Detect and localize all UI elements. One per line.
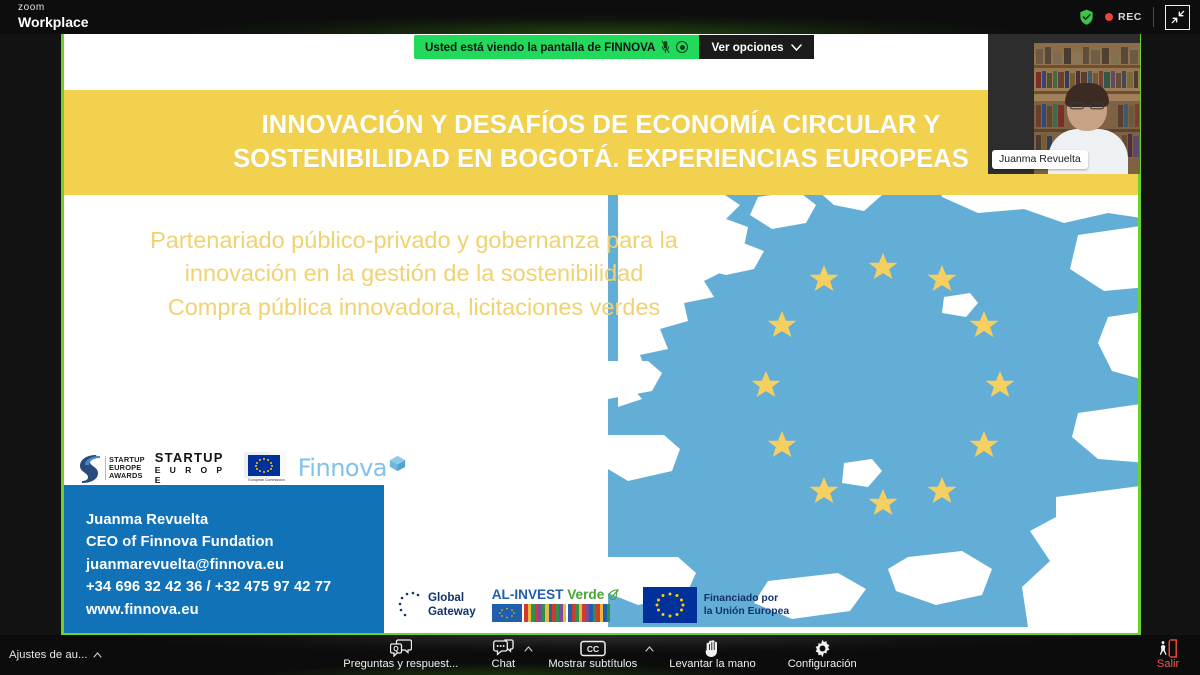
raise-hand-icon	[703, 639, 722, 657]
global-gateway-logo: Global Gateway	[397, 590, 476, 620]
eu-funding-logo: Financiado por la Unión Europea	[643, 587, 789, 623]
toolbar-center-controls: Q Preguntas y respuest... Chat	[0, 635, 1200, 675]
eu-flag	[643, 587, 697, 623]
contact-email: juanmarevuelta@finnova.eu	[86, 554, 384, 576]
qa-bubble-icon: Q	[390, 639, 412, 657]
zoom-logo: zoom Workplace	[18, 3, 89, 29]
qa-button[interactable]: Q Preguntas y respuest...	[327, 635, 474, 675]
record-dot-icon	[1105, 13, 1113, 21]
brand-zoom-text: zoom	[18, 3, 89, 13]
top-right-controls: REC	[1079, 0, 1190, 34]
svg-text:Q: Q	[393, 646, 399, 653]
finnova-wordmark: Finnova	[298, 454, 387, 482]
funder-logo-row: Global Gateway AL-INVEST Verde	[397, 579, 797, 631]
contact-role: CEO of Finnova Fundation	[86, 531, 384, 553]
top-bar: zoom Workplace REC	[0, 0, 1200, 34]
contact-phone: +34 696 32 42 36 / +32 475 97 42 77	[86, 576, 384, 598]
startup-europe-awards-logo: STARTUP EUROPE AWARDS	[76, 453, 145, 483]
slide-title-line-1: INNOVACIÓN Y DESAFÍOS DE ECONOMÍA CIRCUL…	[262, 109, 941, 143]
meeting-toolbar: Ajustes de au... Q Preguntas y respuest.…	[0, 635, 1200, 675]
exit-fullscreen-button[interactable]	[1165, 5, 1190, 30]
startup-europe-line-1: STARTUP	[155, 451, 233, 465]
settings-label: Configuración	[788, 659, 857, 670]
raise-hand-label: Levantar la mano	[669, 659, 755, 670]
screen-share-notice: Usted está viendo la pantalla de FINNOVA…	[414, 35, 814, 59]
contact-website: www.finnova.eu	[86, 599, 384, 621]
toolbar-divider	[1153, 7, 1154, 27]
slide-subtitle-line-3: Compra pública innovadora, licitaciones …	[64, 291, 764, 324]
chat-button[interactable]: Chat	[474, 635, 532, 675]
view-options-button[interactable]: Ver opciones	[699, 35, 813, 59]
captions-label: Mostrar subtítulos	[548, 659, 637, 670]
exit-fullscreen-icon	[1171, 10, 1185, 24]
al-invest-color-bar-icon	[492, 604, 627, 622]
svg-text:CC: CC	[587, 644, 599, 654]
participant-thumbnail[interactable]: Juanma Revuelta	[988, 34, 1140, 174]
settings-button[interactable]: Configuración	[772, 635, 873, 675]
contact-card: Juanma Revuelta CEO of Finnova Fundation…	[64, 485, 384, 633]
european-commission-caption: European Commission	[248, 478, 288, 482]
recording-label: REC	[1118, 11, 1142, 23]
slide-title-line-2: SOSTENIBILIDAD EN BOGOTÁ. EXPERIENCIAS E…	[233, 143, 969, 177]
qa-label: Preguntas y respuest...	[343, 659, 458, 670]
global-gateway-text: Global Gateway	[428, 591, 476, 618]
al-invest-color-bar	[492, 604, 627, 622]
global-gateway-dots-icon	[397, 590, 425, 620]
microphone-muted-icon	[661, 40, 670, 54]
chat-bubble-icon	[493, 639, 514, 657]
recording-indicator-icon	[676, 41, 688, 53]
european-commission-logo: European Commission	[242, 450, 287, 486]
view-options-label: Ver opciones	[711, 41, 783, 54]
leave-meeting-icon	[1158, 639, 1178, 657]
finnova-logo: Finnova	[298, 454, 406, 482]
leave-meeting-button[interactable]: Salir	[1148, 635, 1188, 675]
slide-subtitle-line-1: Partenariado público-privado y gobernanz…	[64, 224, 764, 257]
slide-subtitle: Partenariado público-privado y gobernanz…	[64, 224, 764, 324]
startup-europe-awards-mark-icon	[76, 453, 102, 483]
glasses-icon	[1070, 102, 1104, 110]
closed-caption-icon: CC	[580, 639, 606, 657]
al-invest-verde-logo: AL-INVEST Verde	[492, 588, 627, 623]
raise-hand-button[interactable]: Levantar la mano	[653, 635, 771, 675]
startup-europe-awards-text: STARTUP EUROPE AWARDS	[105, 456, 145, 481]
participant-name-label: Juanma Revuelta	[992, 150, 1088, 169]
startup-europe-line-2: E U R O P E	[155, 466, 233, 485]
eu-stars-icon	[248, 455, 280, 476]
zoom-meeting-window: zoom Workplace REC	[0, 0, 1200, 675]
captions-button[interactable]: CC Mostrar subtítulos	[532, 635, 653, 675]
shelf-items-row-1	[1034, 45, 1140, 65]
al-invest-verde-text: AL-INVEST Verde	[492, 588, 627, 602]
chat-label: Chat	[491, 659, 515, 670]
share-notice-text: Usted está viendo la pantalla de FINNOVA	[425, 41, 655, 54]
shield-check-icon[interactable]	[1079, 9, 1094, 25]
shelf-divider-1	[1034, 65, 1140, 68]
chevron-down-icon	[791, 44, 802, 51]
share-notice-pill: Usted está viendo la pantalla de FINNOVA	[414, 35, 699, 59]
slide-subtitle-line-2: innovación en la gestión de la sostenibi…	[64, 257, 764, 290]
shared-screen-frame: INNOVACIÓN Y DESAFÍOS DE ECONOMÍA CIRCUL…	[61, 34, 1141, 635]
slide-title-band: INNOVACIÓN Y DESAFÍOS DE ECONOMÍA CIRCUL…	[64, 90, 1138, 195]
shelf-objects-icon	[1034, 45, 1140, 65]
gear-icon	[813, 639, 832, 657]
presentation-slide: INNOVACIÓN Y DESAFÍOS DE ECONOMÍA CIRCUL…	[64, 34, 1138, 633]
eu-flag-small	[248, 455, 280, 476]
eu-stars-icon-large	[643, 587, 697, 623]
leaf-icon	[608, 589, 619, 600]
leave-label: Salir	[1157, 659, 1179, 670]
top-bar-glow	[60, 0, 1140, 34]
eu-funding-text: Financiado por la Unión Europea	[704, 592, 789, 618]
brand-workplace-text: Workplace	[18, 15, 89, 29]
cube-icon	[389, 455, 406, 472]
startup-europe-logo: STARTUP E U R O P E	[155, 451, 233, 485]
contact-name: Juanma Revuelta	[86, 509, 384, 531]
recording-indicator[interactable]: REC	[1105, 11, 1142, 23]
